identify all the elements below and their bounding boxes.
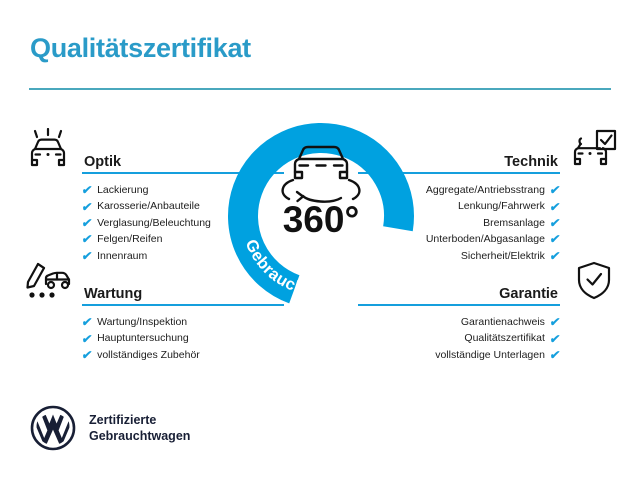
page-title: Qualitätszertifikat xyxy=(30,33,251,64)
check-icon: ✔ xyxy=(549,217,561,229)
check-icon: ✔ xyxy=(549,316,561,328)
check-icon: ✔ xyxy=(81,349,93,361)
list-item-label: Hauptuntersuchung xyxy=(97,330,189,346)
list-item: ✔vollständiges Zubehör xyxy=(82,347,254,363)
section-garantie: Garantie Garantienachweis✔ Qualitätszert… xyxy=(388,260,618,363)
section-wartung-header: Wartung xyxy=(24,260,254,304)
section-optik: Optik ✔Lackierung ✔Karosserie/Anbauteile… xyxy=(24,128,254,264)
check-icon: ✔ xyxy=(81,184,93,196)
check-icon: ✔ xyxy=(549,233,561,245)
section-optik-header: Optik xyxy=(24,128,254,172)
section-optik-list: ✔Lackierung ✔Karosserie/Anbauteile ✔Verg… xyxy=(24,172,254,264)
check-icon: ✔ xyxy=(81,233,93,245)
check-icon: ✔ xyxy=(549,333,561,345)
badge-360-gebrauchtwagen-check: Gebrauchtwagen-Check 360° xyxy=(223,118,419,314)
check-icon: ✔ xyxy=(81,217,93,229)
car-sparkle-icon xyxy=(24,128,72,170)
section-garantie-list: Garantienachweis✔ Qualitätszertifikat✔ v… xyxy=(388,304,618,363)
section-optik-title: Optik xyxy=(84,154,121,170)
footer-text: Zertifizierte Gebrauchtwagen xyxy=(89,412,190,444)
list-item-label: Verglasung/Beleuchtung xyxy=(97,215,211,231)
title-divider xyxy=(29,88,611,90)
list-item-label: Bremsanlage xyxy=(483,215,545,231)
list-item-label: Garantienachweis xyxy=(461,314,545,330)
check-icon: ✔ xyxy=(549,201,561,213)
list-item-label: Lackierung xyxy=(97,182,148,198)
shield-check-icon xyxy=(570,260,618,302)
list-item-label: Karosserie/Anbauteile xyxy=(97,198,200,214)
list-item-label: Wartung/Inspektion xyxy=(97,314,187,330)
section-wartung-list: ✔Wartung/Inspektion ✔Hauptuntersuchung ✔… xyxy=(24,304,254,363)
vw-logo xyxy=(30,405,76,451)
section-wartung-title: Wartung xyxy=(84,286,142,302)
qualitaetszertifikat-page: Qualitätszertifikat xyxy=(0,0,640,480)
list-item-label: Lenkung/Fahrwerk xyxy=(458,198,545,214)
list-item: ✔Wartung/Inspektion xyxy=(82,314,254,330)
pen-car-service-icon xyxy=(24,260,72,302)
section-technik-list: Aggregate/Antriebsstrang✔ Lenkung/Fahrwe… xyxy=(388,172,618,264)
section-technik-title: Technik xyxy=(504,154,558,170)
section-garantie-header: Garantie xyxy=(388,260,618,304)
section-wartung: Wartung ✔Wartung/Inspektion ✔Hauptunters… xyxy=(24,260,254,363)
footer-line-1: Zertifizierte xyxy=(89,412,190,428)
footer-line-2: Gebrauchtwagen xyxy=(89,428,190,444)
list-item: ✔Hauptuntersuchung xyxy=(82,330,254,346)
list-item-label: Aggregate/Antriebsstrang xyxy=(426,182,545,198)
list-item-label: Qualitätszertifikat xyxy=(464,330,545,346)
check-icon: ✔ xyxy=(81,316,93,328)
check-icon: ✔ xyxy=(81,201,93,213)
list-item-label: vollständiges Zubehör xyxy=(97,347,200,363)
list-item-label: Unterboden/Abgasanlage xyxy=(426,231,545,247)
list-item-label: Felgen/Reifen xyxy=(97,231,162,247)
footer-brand: Zertifizierte Gebrauchtwagen xyxy=(30,405,190,451)
car-checkbox-icon xyxy=(570,128,618,170)
badge-center-label: 360° xyxy=(283,199,360,240)
list-item: vollständige Unterlagen✔ xyxy=(388,347,560,363)
list-item: Garantienachweis✔ xyxy=(388,314,560,330)
section-technik-header: Technik xyxy=(388,128,618,172)
check-icon: ✔ xyxy=(549,184,561,196)
list-item-label: vollständige Unterlagen xyxy=(435,347,545,363)
section-garantie-title: Garantie xyxy=(499,286,558,302)
list-item: Qualitätszertifikat✔ xyxy=(388,330,560,346)
check-icon: ✔ xyxy=(81,333,93,345)
section-technik: Technik Aggregate/Antriebsstrang✔ Lenkun… xyxy=(388,128,618,264)
check-icon: ✔ xyxy=(549,349,561,361)
